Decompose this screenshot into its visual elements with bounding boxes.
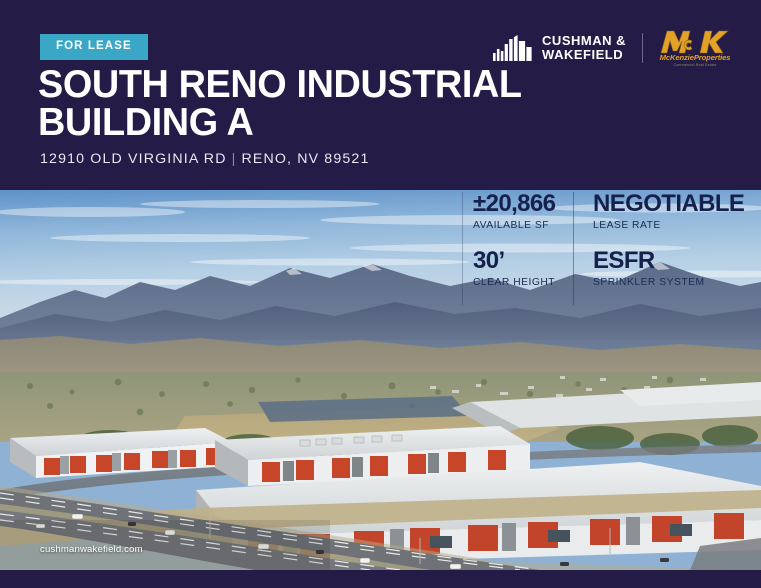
mckenzie-tagline: Commercial Real Estate (659, 63, 731, 67)
logo-group: CUSHMAN & WAKEFIELD McKenzieProp (493, 30, 731, 66)
logo-divider (642, 33, 643, 63)
mckenzie-properties-mk-icon (659, 30, 731, 54)
stat-label: CLEAR HEIGHT (473, 277, 573, 288)
cushman-wakefield-logo: CUSHMAN & WAKEFIELD (493, 34, 626, 62)
stat-lease-rate: NEGOTIABLE LEASE RATE (574, 192, 761, 249)
address-separator: | (227, 151, 242, 167)
stat-value: ±20,866 (473, 192, 573, 216)
address-city: RENO, NV 89521 (241, 151, 369, 167)
cw-word-line-1: CUSHMAN & (542, 34, 626, 48)
cushman-wakefield-wordmark: CUSHMAN & WAKEFIELD (542, 34, 626, 62)
cushman-wakefield-buildings-icon (493, 35, 533, 61)
for-lease-badge: FOR LEASE (40, 34, 148, 60)
website-url[interactable]: cushmanwakefield.com (40, 544, 143, 555)
header-band: FOR LEASE SOUTH RENO INDUSTRIAL BUILDING… (0, 0, 761, 190)
stat-available-sf: ±20,866 AVAILABLE SF (462, 192, 573, 249)
mckenzie-name: McKenzieProperties (659, 53, 731, 62)
title-line-2: BUILDING A (38, 104, 522, 142)
lease-flyer: FOR LEASE SOUTH RENO INDUSTRIAL BUILDING… (0, 0, 761, 588)
cw-word-line-2: WAKEFIELD (542, 48, 626, 62)
stat-sprinkler-system: ESFR SPRINKLER SYSTEM (574, 249, 761, 305)
stat-value: ESFR (593, 249, 761, 273)
stat-value: NEGOTIABLE (593, 192, 761, 216)
address-street: 12910 OLD VIRGINIA RD (40, 151, 227, 167)
mckenzie-properties-logo: McKenzieProperties Commercial Real Estat… (659, 30, 731, 67)
stat-label: SPRINKLER SYSTEM (593, 277, 761, 288)
footer-band (0, 570, 761, 588)
page-title: SOUTH RENO INDUSTRIAL BUILDING A (38, 66, 522, 142)
stat-value: 30’ (473, 249, 573, 273)
stat-label: AVAILABLE SF (473, 220, 573, 231)
stat-label: LEASE RATE (593, 220, 761, 231)
property-address: 12910 OLD VIRGINIA RD|RENO, NV 89521 (40, 151, 370, 167)
title-line-1: SOUTH RENO INDUSTRIAL (38, 63, 522, 106)
key-stats-panel: ±20,866 AVAILABLE SF NEGOTIABLE LEASE RA… (462, 192, 761, 305)
stat-clear-height: 30’ CLEAR HEIGHT (462, 249, 573, 305)
